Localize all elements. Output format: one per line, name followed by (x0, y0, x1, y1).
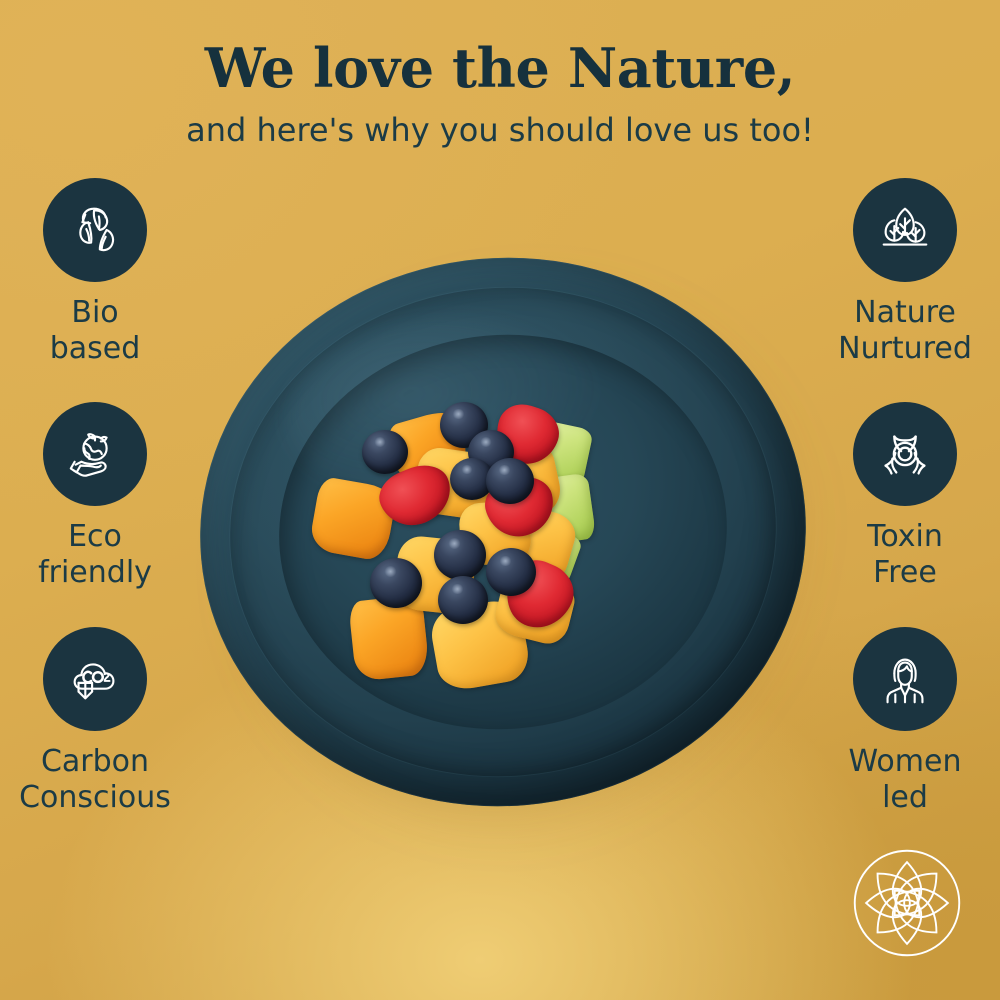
header: We love the Nature, and here's why you s… (0, 40, 1000, 149)
feature-label: Eco friendly (0, 519, 190, 591)
co2-cloud-down-arrow-icon (64, 648, 126, 710)
feature-label: Carbon Conscious (0, 744, 190, 816)
fruit-blueberry (486, 548, 536, 596)
hand-holding-globe-sprout-icon (64, 423, 126, 485)
brand-logo[interactable] (850, 846, 964, 960)
badge-circle (853, 178, 957, 282)
feature-bio-based[interactable]: Bio based (0, 178, 190, 367)
badge-circle (43, 178, 147, 282)
fruit-blueberry (486, 458, 534, 504)
feature-label: Nature Nurtured (810, 295, 1000, 367)
three-leaves-recycle-icon (64, 199, 126, 261)
fruit-blueberry (362, 430, 408, 474)
badge-circle (43, 627, 147, 731)
fruit-salad (300, 380, 670, 710)
badge-circle (853, 627, 957, 731)
trees-icon (874, 199, 936, 261)
feature-label: Toxin Free (810, 519, 1000, 591)
badge-circle (43, 402, 147, 506)
circular-floral-petal-logo (850, 846, 964, 960)
feature-eco-friendly[interactable]: Eco friendly (0, 402, 190, 591)
page-subtitle: and here's why you should love us too! (0, 111, 1000, 149)
feature-women-led[interactable]: Women led (810, 627, 1000, 816)
badge-circle (853, 402, 957, 506)
feature-label: Bio based (0, 295, 190, 367)
fruit-blueberry (438, 576, 488, 624)
fruit-blueberry (370, 558, 422, 608)
biohazard-icon (874, 423, 936, 485)
businesswoman-icon (874, 648, 936, 710)
page-title: We love the Nature, (0, 40, 1000, 97)
feature-carbon-conscious[interactable]: Carbon Conscious (0, 627, 190, 816)
feature-nature-nurtured[interactable]: Nature Nurtured (810, 178, 1000, 367)
fruit-blueberry (434, 530, 486, 580)
feature-toxin-free[interactable]: Toxin Free (810, 402, 1000, 591)
feature-label: Women led (810, 744, 1000, 816)
